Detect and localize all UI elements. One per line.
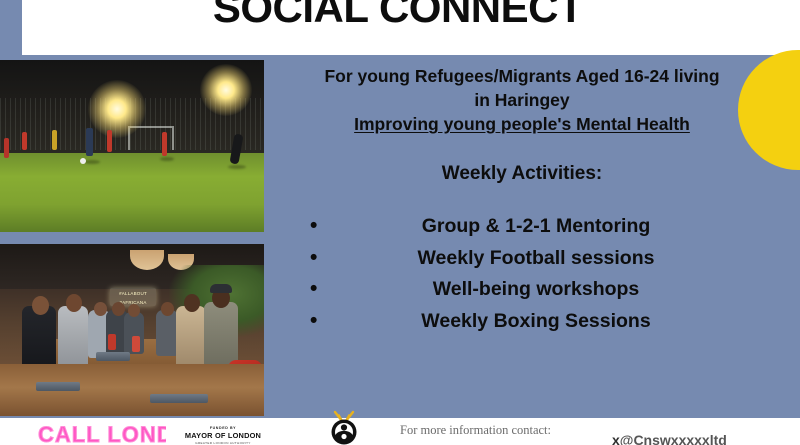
mission-line: Improving young people's Mental Health <box>272 114 772 135</box>
photo-football <box>0 60 264 232</box>
left-accent-strip <box>0 0 22 60</box>
condiment-bottle <box>132 336 140 352</box>
page-title: SOCIAL CONNECT <box>22 0 774 30</box>
napkin-setting <box>36 382 80 391</box>
grass-pitch <box>0 153 264 232</box>
weekly-activities-heading: Weekly Activities: <box>272 163 772 185</box>
player-shadow <box>228 165 246 169</box>
football-ball <box>80 158 86 164</box>
person-head <box>161 302 174 316</box>
charity-figure-logo-icon <box>322 410 366 445</box>
photo-dinner: #ALLABOUT #AFRICANA <box>0 244 264 416</box>
player-figure <box>52 130 57 150</box>
audience-line-1: For young Refugees/Migrants Aged 16-24 l… <box>324 66 719 86</box>
player-shadow <box>84 160 100 164</box>
napkin-setting <box>96 352 130 361</box>
contact-handle-text: @Cnswxxxxxltd <box>620 432 727 445</box>
poster-root: SOCIAL CONNECT #ALLABOUT #AFRICANA <box>0 0 800 445</box>
floodlight-icon <box>200 64 252 116</box>
player-figure <box>107 130 112 152</box>
person-figure <box>156 310 178 356</box>
person-head <box>94 302 107 316</box>
list-item: Well-being workshops <box>318 274 772 306</box>
person-figure <box>58 306 88 370</box>
player-figure <box>162 132 167 156</box>
napkin-setting <box>150 394 208 403</box>
condiment-bottle <box>108 334 116 350</box>
mayor-of-london-logo: FUNDED BY MAYOR OF LONDON GREATER LONDON… <box>175 426 271 445</box>
person-head <box>32 296 49 315</box>
audience-line-2: in Haringey <box>474 90 569 110</box>
person-figure <box>176 306 206 368</box>
player-figure <box>4 138 9 158</box>
call-london-logo: CALL LONDON <box>38 425 166 445</box>
x-social-icon: x <box>612 432 620 445</box>
person-head <box>112 302 125 316</box>
list-item: Group & 1-2-1 Mentoring <box>318 211 772 243</box>
content-column: For young Refugees/Migrants Aged 16-24 l… <box>272 58 772 413</box>
player-shadow <box>160 157 174 161</box>
mayor-of-london-sublabel: GREATER LONDON AUTHORITY <box>175 441 271 445</box>
person-head <box>128 304 140 317</box>
beanie-hat-icon <box>210 284 232 293</box>
audience-line: For young Refugees/Migrants Aged 16-24 l… <box>272 58 772 112</box>
person-head <box>66 294 82 312</box>
contact-prompt: For more information contact: <box>400 423 551 438</box>
list-item: Weekly Football sessions <box>318 243 772 275</box>
call-london-logo-text: CALL LONDON <box>38 425 166 445</box>
player-figure <box>86 128 93 156</box>
list-item: Weekly Boxing Sessions <box>318 306 772 338</box>
contact-handle[interactable]: x@Cnswxxxxxltd <box>612 432 727 445</box>
mayor-of-london-label: MAYOR OF LONDON <box>175 431 271 441</box>
neon-sign-line1: #ALLABOUT <box>110 288 156 297</box>
person-head <box>184 294 200 312</box>
player-figure <box>22 132 27 150</box>
activities-list: Group & 1-2-1 Mentoring Weekly Football … <box>272 211 772 337</box>
floodlight-icon <box>88 80 146 138</box>
